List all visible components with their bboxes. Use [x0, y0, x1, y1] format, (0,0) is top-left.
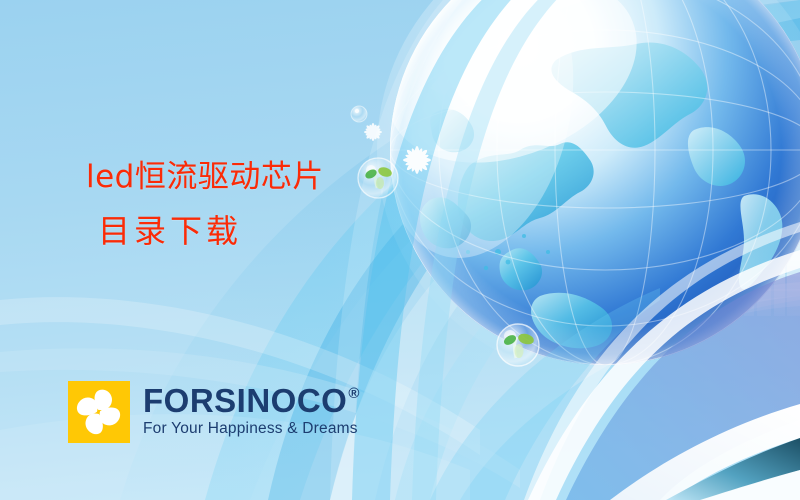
logo-wordmark-label: FORSINOCO [143, 384, 347, 417]
bubble-icon [351, 106, 367, 122]
four-petal-pinwheel-icon [68, 381, 130, 443]
logo-wordmark: FORSINOCO ® [143, 384, 360, 417]
headline-text: led恒流驱动芯片 目录下载 [86, 162, 324, 247]
headline-line-2: 目录下载 [98, 215, 324, 247]
logo-tagline: For Your Happiness & Dreams [143, 420, 360, 438]
logo-text-block: FORSINOCO ® For Your Happiness & Dreams [143, 381, 360, 438]
registered-trademark-icon: ® [348, 386, 360, 401]
bubble-sprout-icon [358, 158, 398, 198]
headline-line-1: led恒流驱动芯片 [86, 162, 324, 193]
bubble-sprout-icon [497, 324, 539, 366]
company-logo: FORSINOCO ® For Your Happiness & Dreams [68, 381, 360, 443]
slide-canvas: led恒流驱动芯片 目录下载 FORSINOCO ® For Your Happ… [0, 0, 800, 500]
